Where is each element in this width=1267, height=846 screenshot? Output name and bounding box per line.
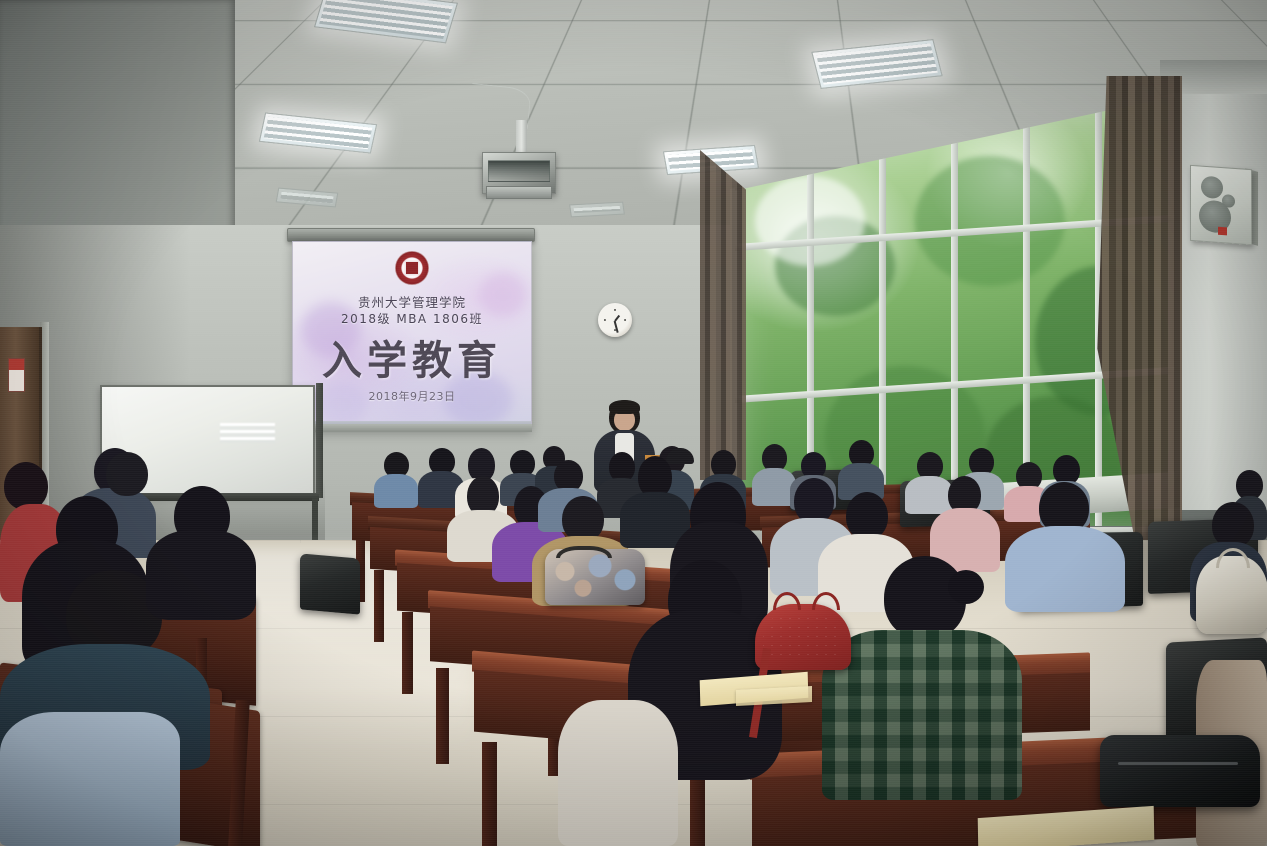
handbag-strap <box>556 546 612 558</box>
speaker-tweeter <box>1201 176 1223 200</box>
attendee <box>1005 482 1125 612</box>
attendee <box>0 712 180 846</box>
desk-leg <box>482 742 497 846</box>
handbag-quilt-pattern <box>763 610 843 660</box>
seal-inner-glyph <box>405 261 420 276</box>
wall-clock-icon <box>598 303 632 337</box>
door-sign-icon <box>8 358 25 392</box>
slide-institution-text: 贵州大学管理学院 <box>293 292 531 311</box>
university-seal-logo-icon <box>395 251 429 285</box>
red-handbag <box>755 604 851 670</box>
screen-weight-bar <box>292 424 532 432</box>
classroom-photo: 贵州大学管理学院 2018级 MBA 1806班 入学教育 2018年9月23日 <box>0 0 1267 846</box>
curtain-left[interactable] <box>700 150 746 480</box>
attendee-torso <box>822 630 1022 800</box>
projector-cage <box>486 186 552 199</box>
attendee <box>146 486 256 616</box>
desk-leg <box>436 668 449 764</box>
wall-speaker-icon <box>1190 165 1252 245</box>
attendee-torso <box>374 474 418 508</box>
slide-date-text: 2018年9月23日 <box>293 388 531 404</box>
attendee <box>822 556 1022 800</box>
whiteboard-light-reflection <box>220 423 275 443</box>
attendee <box>374 452 418 508</box>
projection-screen: 贵州大学管理学院 2018级 MBA 1806班 入学教育 2018年9月23日 <box>292 241 532 431</box>
attendee-torso <box>1005 526 1125 612</box>
attendee-head <box>106 452 148 496</box>
attendee-torso <box>558 700 678 846</box>
attendee-torso <box>0 712 180 846</box>
desk-leg <box>402 612 413 694</box>
projection-screen-housing <box>287 228 535 242</box>
black-bag <box>1100 735 1260 807</box>
desk-leg <box>374 570 384 642</box>
speaker-led-icon <box>1218 227 1227 236</box>
chair-back <box>300 553 360 614</box>
slide-title-text: 入学教育 <box>293 328 531 386</box>
attendee-head <box>846 492 888 540</box>
whiteboard-post <box>316 383 323 498</box>
bag-zipper-icon <box>1118 762 1238 765</box>
attendee-hair-bun <box>948 570 984 604</box>
attendee <box>558 700 678 846</box>
attendee-long-hair <box>146 530 256 620</box>
presenter-hair-front <box>609 400 640 414</box>
slide-class-text: 2018级 MBA 1806班 <box>293 310 531 327</box>
